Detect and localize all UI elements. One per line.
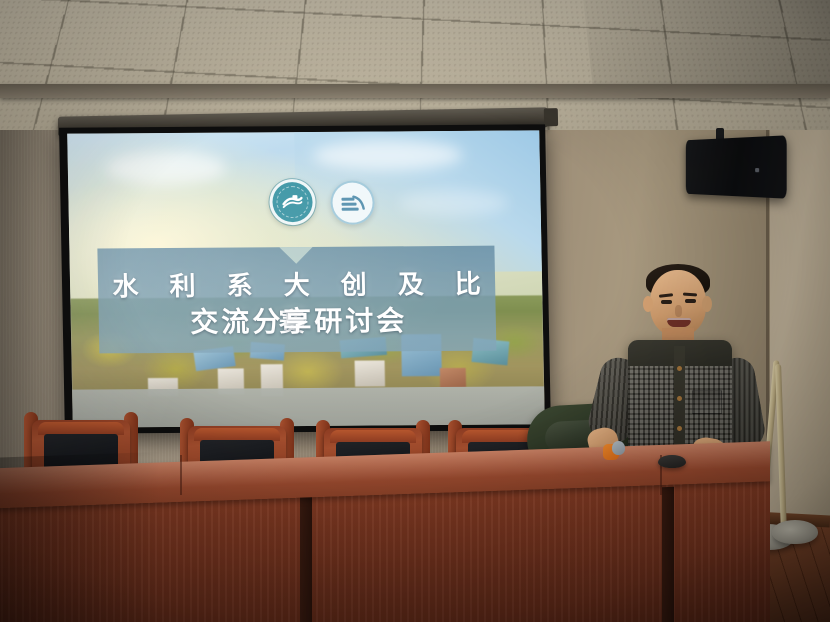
table-shadow bbox=[0, 452, 160, 622]
campus-building bbox=[440, 368, 466, 388]
slide-title-line2: 交流分享研讨会 bbox=[99, 298, 496, 341]
loudspeaker-icon bbox=[686, 135, 787, 198]
ear bbox=[702, 296, 712, 312]
computer-mouse bbox=[658, 455, 686, 468]
eye bbox=[661, 300, 672, 304]
shirt-button bbox=[677, 366, 682, 371]
ear bbox=[643, 296, 653, 312]
campus-building bbox=[355, 361, 386, 387]
shirt-pocket bbox=[692, 390, 722, 414]
toy-figurine bbox=[603, 441, 625, 460]
ceiling-wall-edge bbox=[0, 84, 830, 98]
table-leg bbox=[662, 487, 674, 622]
university-seal-emblem bbox=[276, 186, 309, 218]
cloud bbox=[105, 150, 226, 185]
photo-scene: 水 利 系 大 创 及 比 赛 交流分享研讨会 bbox=[0, 0, 830, 622]
mouth bbox=[667, 318, 691, 327]
shirt-button bbox=[677, 396, 682, 401]
slide-title-banner: 水 利 系 大 创 及 比 赛 交流分享研讨会 bbox=[98, 245, 497, 354]
ceiling-shadow bbox=[577, 0, 830, 95]
toy-head bbox=[612, 441, 625, 455]
projector-screen: 水 利 系 大 创 及 比 赛 交流分享研讨会 bbox=[59, 124, 551, 433]
shirt-button bbox=[677, 426, 682, 431]
table-leg bbox=[300, 487, 312, 622]
eye bbox=[685, 299, 696, 303]
projected-slide: 水 利 系 大 创 及 比 赛 交流分享研讨会 bbox=[67, 130, 545, 427]
nose bbox=[675, 305, 682, 317]
roller-end-cap bbox=[544, 108, 558, 126]
speaker-led bbox=[755, 168, 759, 172]
banner-notch bbox=[279, 247, 313, 264]
university-seal-logo bbox=[269, 179, 316, 225]
table-seam bbox=[180, 455, 182, 495]
department-seal-logo bbox=[330, 180, 375, 224]
